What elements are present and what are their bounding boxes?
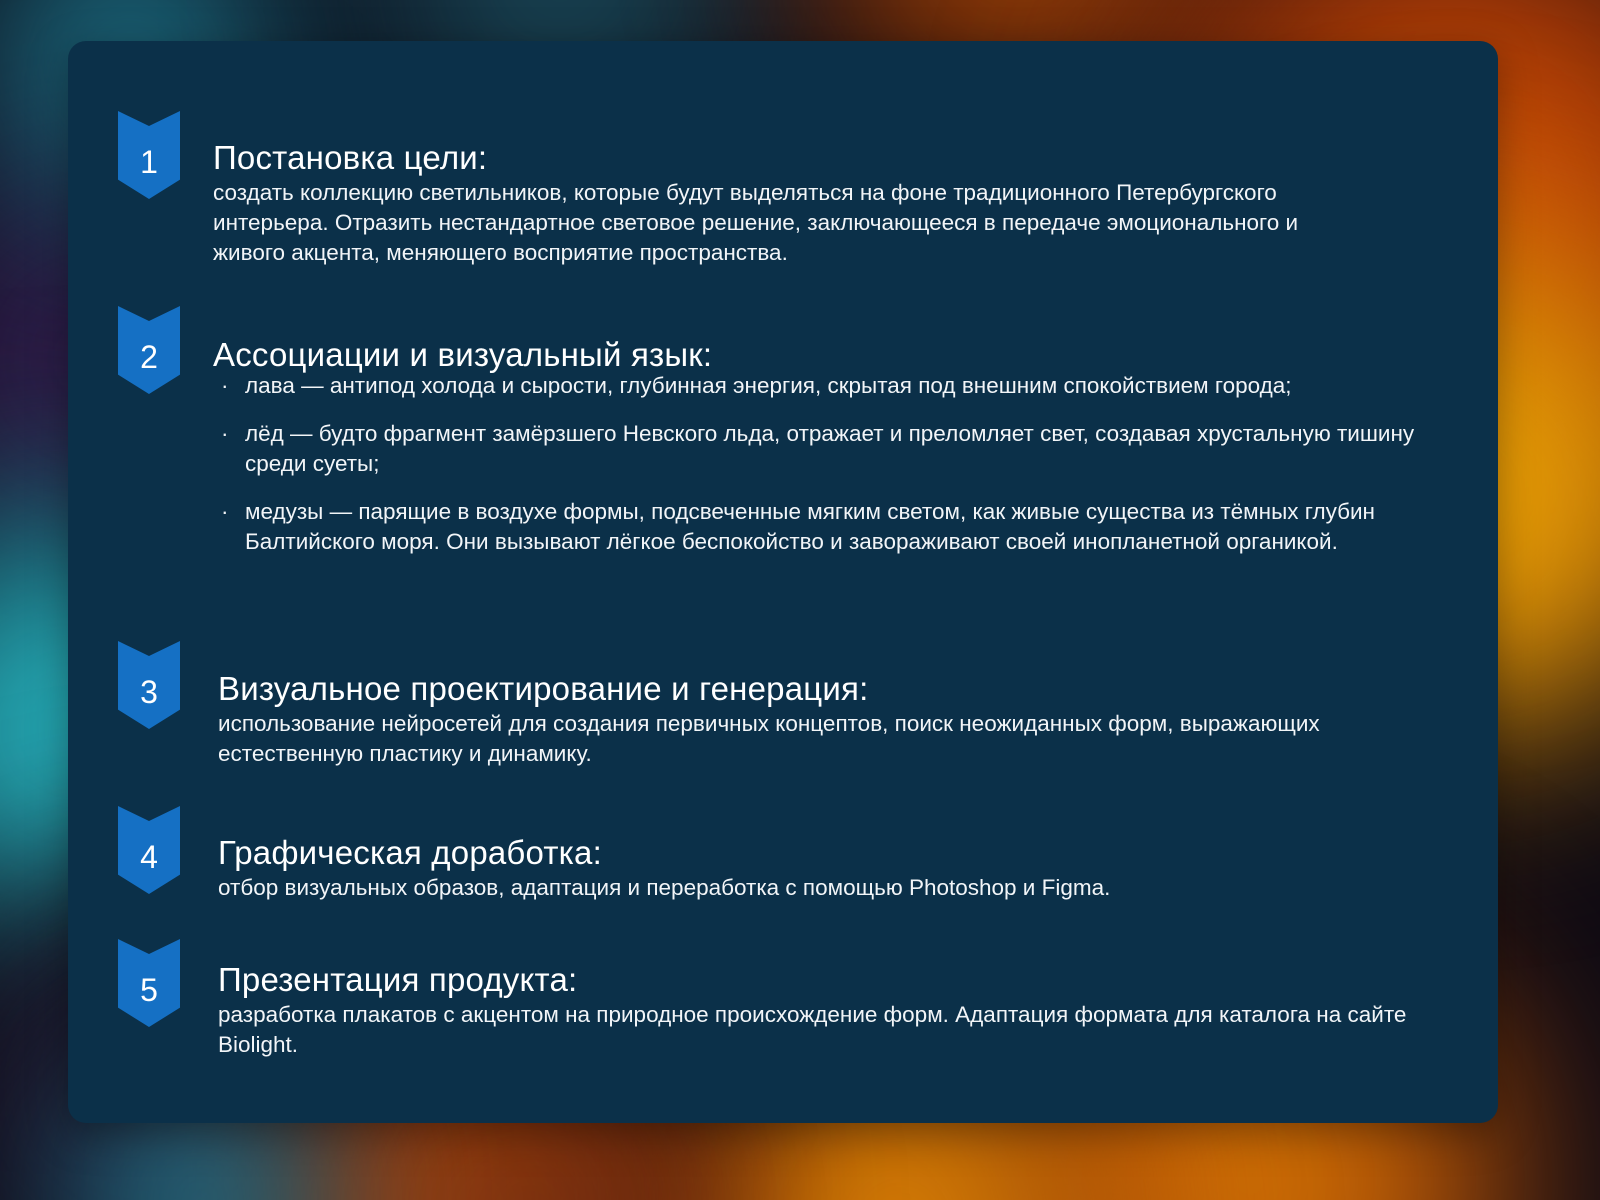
step-badge-2: 2 — [118, 306, 180, 394]
section-body-1: создать коллекцию светильников, которые … — [213, 178, 1335, 268]
section-heading-5: Презентация продукта: — [218, 961, 577, 999]
section-body-5: разработка плакатов с акцентом на природ… — [218, 1000, 1458, 1060]
list-item-text: медузы — парящие в воздухе формы, подсве… — [245, 499, 1375, 554]
bullet-icon: · — [221, 371, 229, 401]
section-heading-3: Визуальное проектирование и генерация: — [218, 670, 868, 708]
step-badge-3: 3 — [118, 641, 180, 729]
list-item: · лава — антипод холода и сырости, глуби… — [213, 371, 1458, 401]
section-heading-2: Ассоциации и визуальный язык: — [213, 336, 712, 374]
step-number-2: 2 — [140, 341, 158, 373]
step-number-5: 5 — [140, 974, 158, 1006]
step-number-1: 1 — [140, 146, 158, 178]
slide-panel: 1 Постановка цели: создать коллекцию све… — [68, 41, 1498, 1123]
bullet-icon: · — [221, 419, 229, 449]
step-badge-4: 4 — [118, 806, 180, 894]
list-item-text: лёд — будто фрагмент замёрзшего Невского… — [245, 421, 1414, 476]
list-item-text: лава — антипод холода и сырости, глубинн… — [245, 373, 1292, 398]
step-number-3: 3 — [140, 676, 158, 708]
section-body-4: отбор визуальных образов, адаптация и пе… — [218, 873, 1458, 903]
section-heading-1: Постановка цели: — [213, 139, 487, 177]
section-heading-4: Графическая доработка: — [218, 834, 602, 872]
step-number-4: 4 — [140, 841, 158, 873]
bullet-icon: · — [221, 497, 229, 527]
step-badge-1: 1 — [118, 111, 180, 199]
step-badge-5: 5 — [118, 939, 180, 1027]
section-bullets-2: · лава — антипод холода и сырости, глуби… — [213, 371, 1458, 557]
list-item: · лёд — будто фрагмент замёрзшего Невско… — [213, 419, 1458, 479]
section-body-3: использование нейросетей для создания пе… — [218, 709, 1458, 769]
list-item: · медузы — парящие в воздухе формы, подс… — [213, 497, 1458, 557]
